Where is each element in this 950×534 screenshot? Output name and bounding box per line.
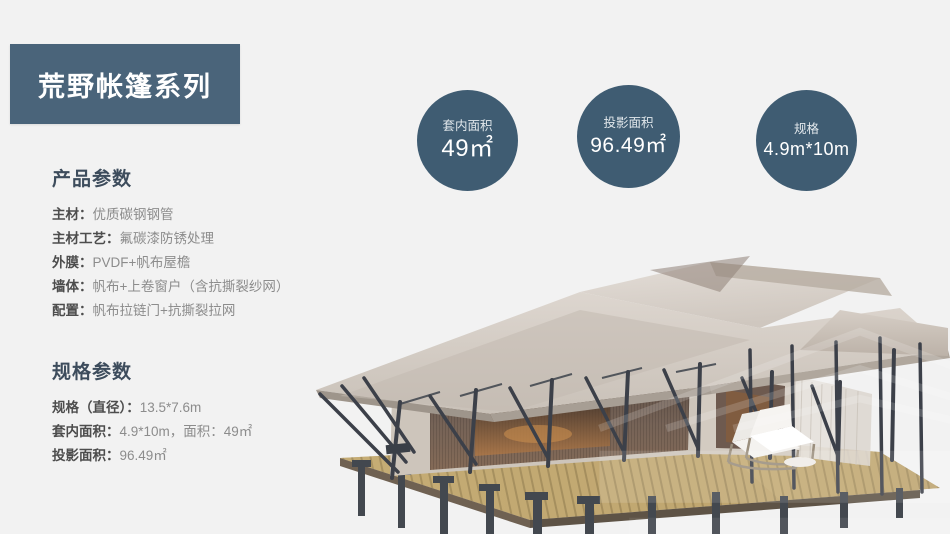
title-banner: 荒野帐篷系列 [10,44,240,124]
badge-value: 96.49㎡ [590,135,667,156]
spec-value: 优质碳钢钢管 [93,207,174,222]
badge-caption: 套内面积 [442,120,492,133]
tent-render-image [280,200,950,534]
badge-indoor-area: 套内面积 49㎡ [417,90,518,191]
product-params-heading: 产品参数 [52,164,352,191]
badge-value: 49㎡ [441,137,493,161]
spec-value: PVDF+帆布屋檐 [93,255,191,270]
spec-label: 主材工艺： [52,231,120,246]
spec-value: 帆布拉链门+抗撕裂拉网 [93,303,236,318]
spec-label: 规格（直径）： [52,400,140,415]
spec-label: 外膜： [52,255,93,270]
spec-label: 墙体： [52,279,93,294]
spec-value: 13.5*7.6m [140,400,202,415]
slide-root: 荒野帐篷系列 产品参数 主材：优质碳钢钢管 主材工艺：氟碳漆防锈处理 外膜：PV… [0,0,950,534]
spec-label: 配置： [52,303,93,318]
badge-caption: 投影面积 [603,117,653,130]
spec-value: 4.9*10m，面积：49㎡ [120,424,253,439]
badge-dimensions: 规格 4.9m*10m [756,90,857,191]
spec-label: 主材： [52,207,93,222]
spec-value: 氟碳漆防锈处理 [120,231,215,246]
badge-value: 4.9m*10m [763,140,849,158]
spec-label: 套内面积： [52,424,120,439]
title-banner-text: 荒野帐篷系列 [38,65,212,104]
badge-caption: 规格 [794,123,819,136]
spec-value: 96.49㎡ [120,448,167,463]
spec-label: 投影面积： [52,448,120,463]
spec-value: 帆布+上卷窗户（含抗撕裂纱网） [93,279,290,294]
badge-projected-area: 投影面积 96.49㎡ [577,85,680,188]
